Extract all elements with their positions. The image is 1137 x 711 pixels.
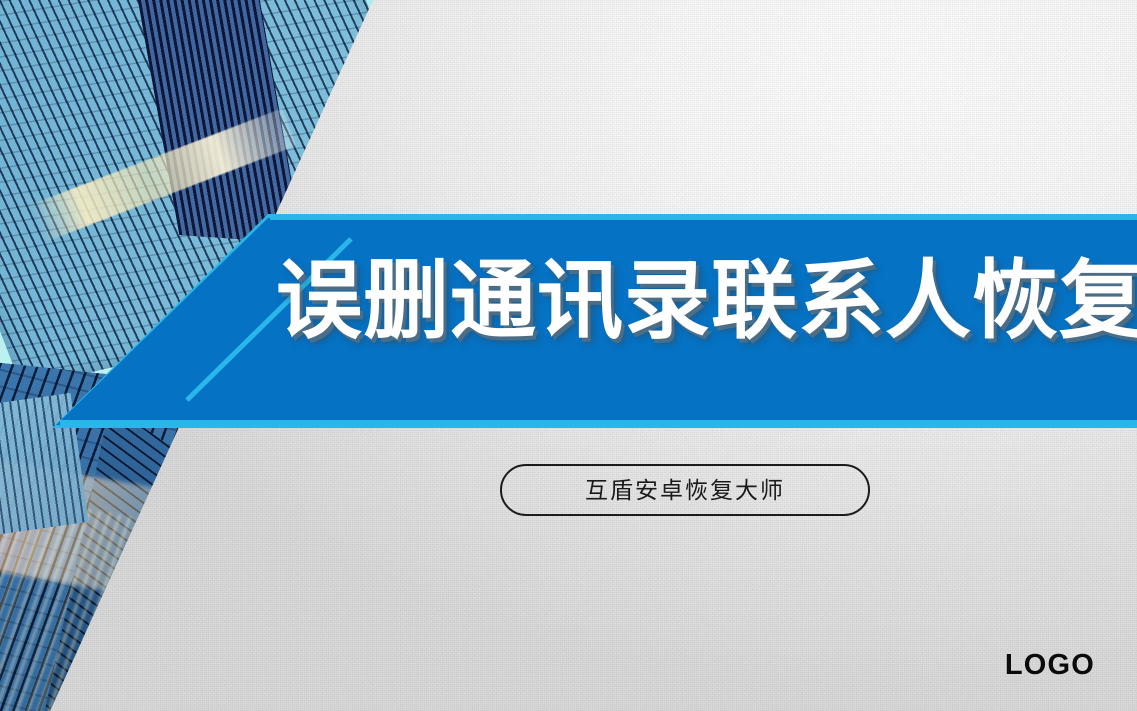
banner-bottom-accent-line	[60, 420, 1137, 425]
subtitle-text: 互盾安卓恢复大师	[585, 479, 785, 502]
subtitle-pill: 互盾安卓恢复大师	[500, 464, 870, 516]
presentation-slide: 误删通讯录联系人恢复 互盾安卓恢复大师 LOGO	[0, 0, 1137, 711]
logo-placeholder: LOGO	[1005, 649, 1095, 682]
slide-title: 误删通讯录联系人恢复	[276, 258, 1137, 344]
banner-top-accent-line	[270, 215, 1137, 220]
